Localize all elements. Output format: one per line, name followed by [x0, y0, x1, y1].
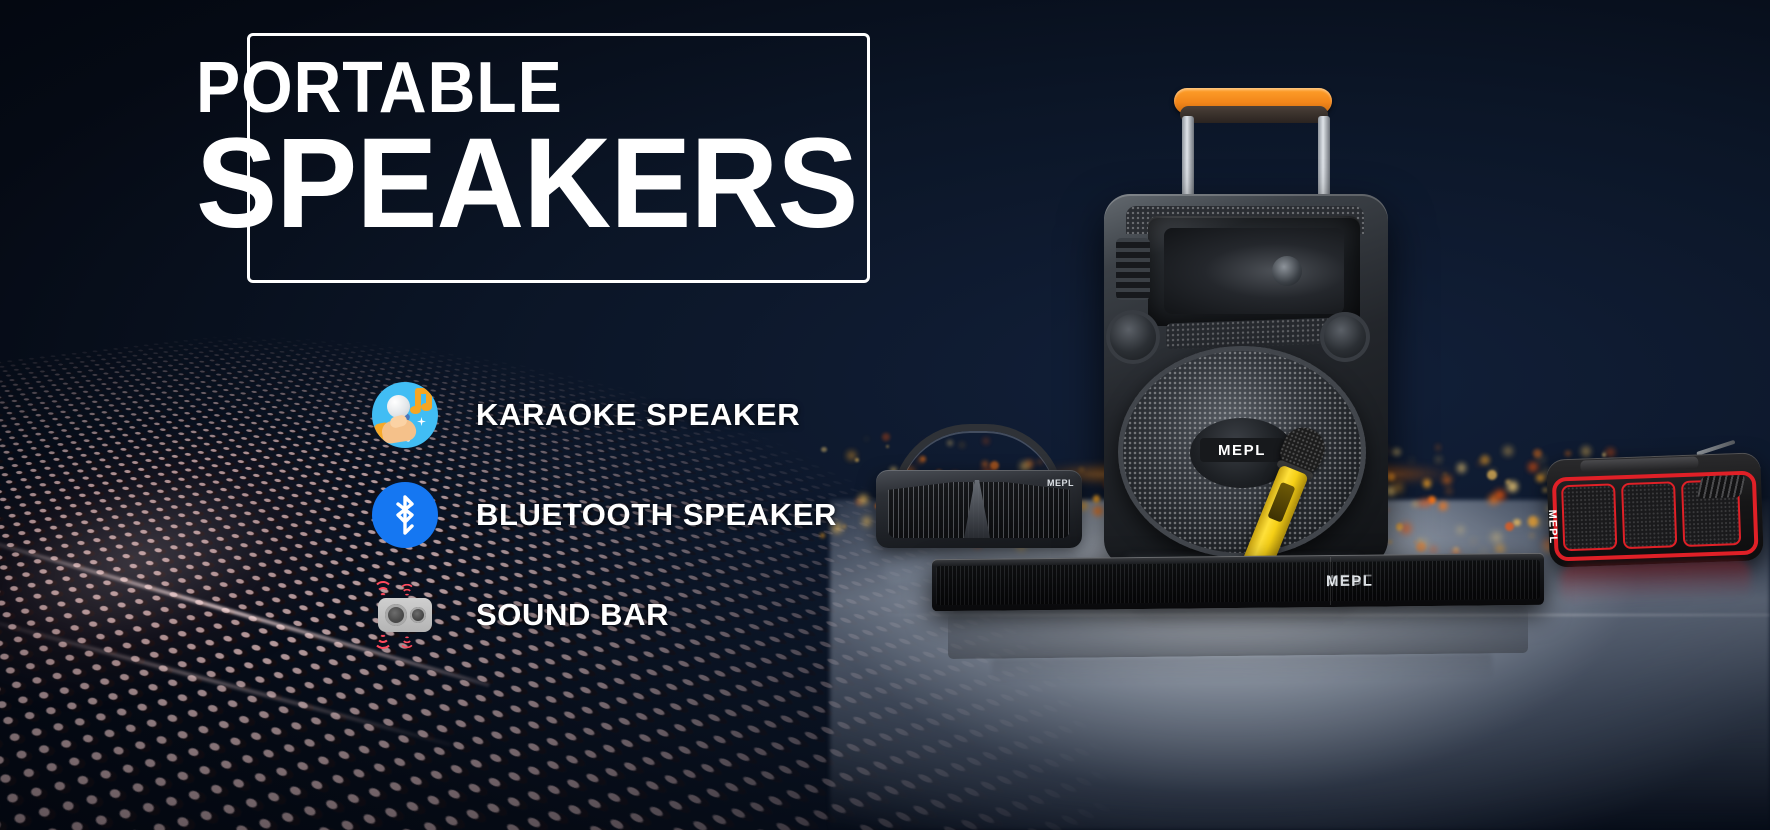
tweeter-left: [1106, 310, 1160, 364]
portable-handle-speaker: MEPL: [876, 424, 1082, 552]
portable-speakers-banner: PORTABLE SPEAKERS KARAOKE SPEAKER: [0, 0, 1770, 830]
sound-bar: MEPL MEPL: [932, 553, 1544, 611]
grey-speaker-logo: MEPL: [1047, 478, 1074, 488]
red-speaker-logo: MEPL: [1546, 509, 1559, 544]
trolley-karaoke-speaker: MEPL: [1082, 88, 1404, 568]
rugged-bluetooth-speaker: MEPL: [1546, 452, 1764, 567]
product-showcase: MEPL MEPL: [0, 0, 1770, 830]
tweeter-right: [1320, 312, 1370, 362]
sound-bar-logo-reflection: MEPL: [1326, 571, 1373, 588]
